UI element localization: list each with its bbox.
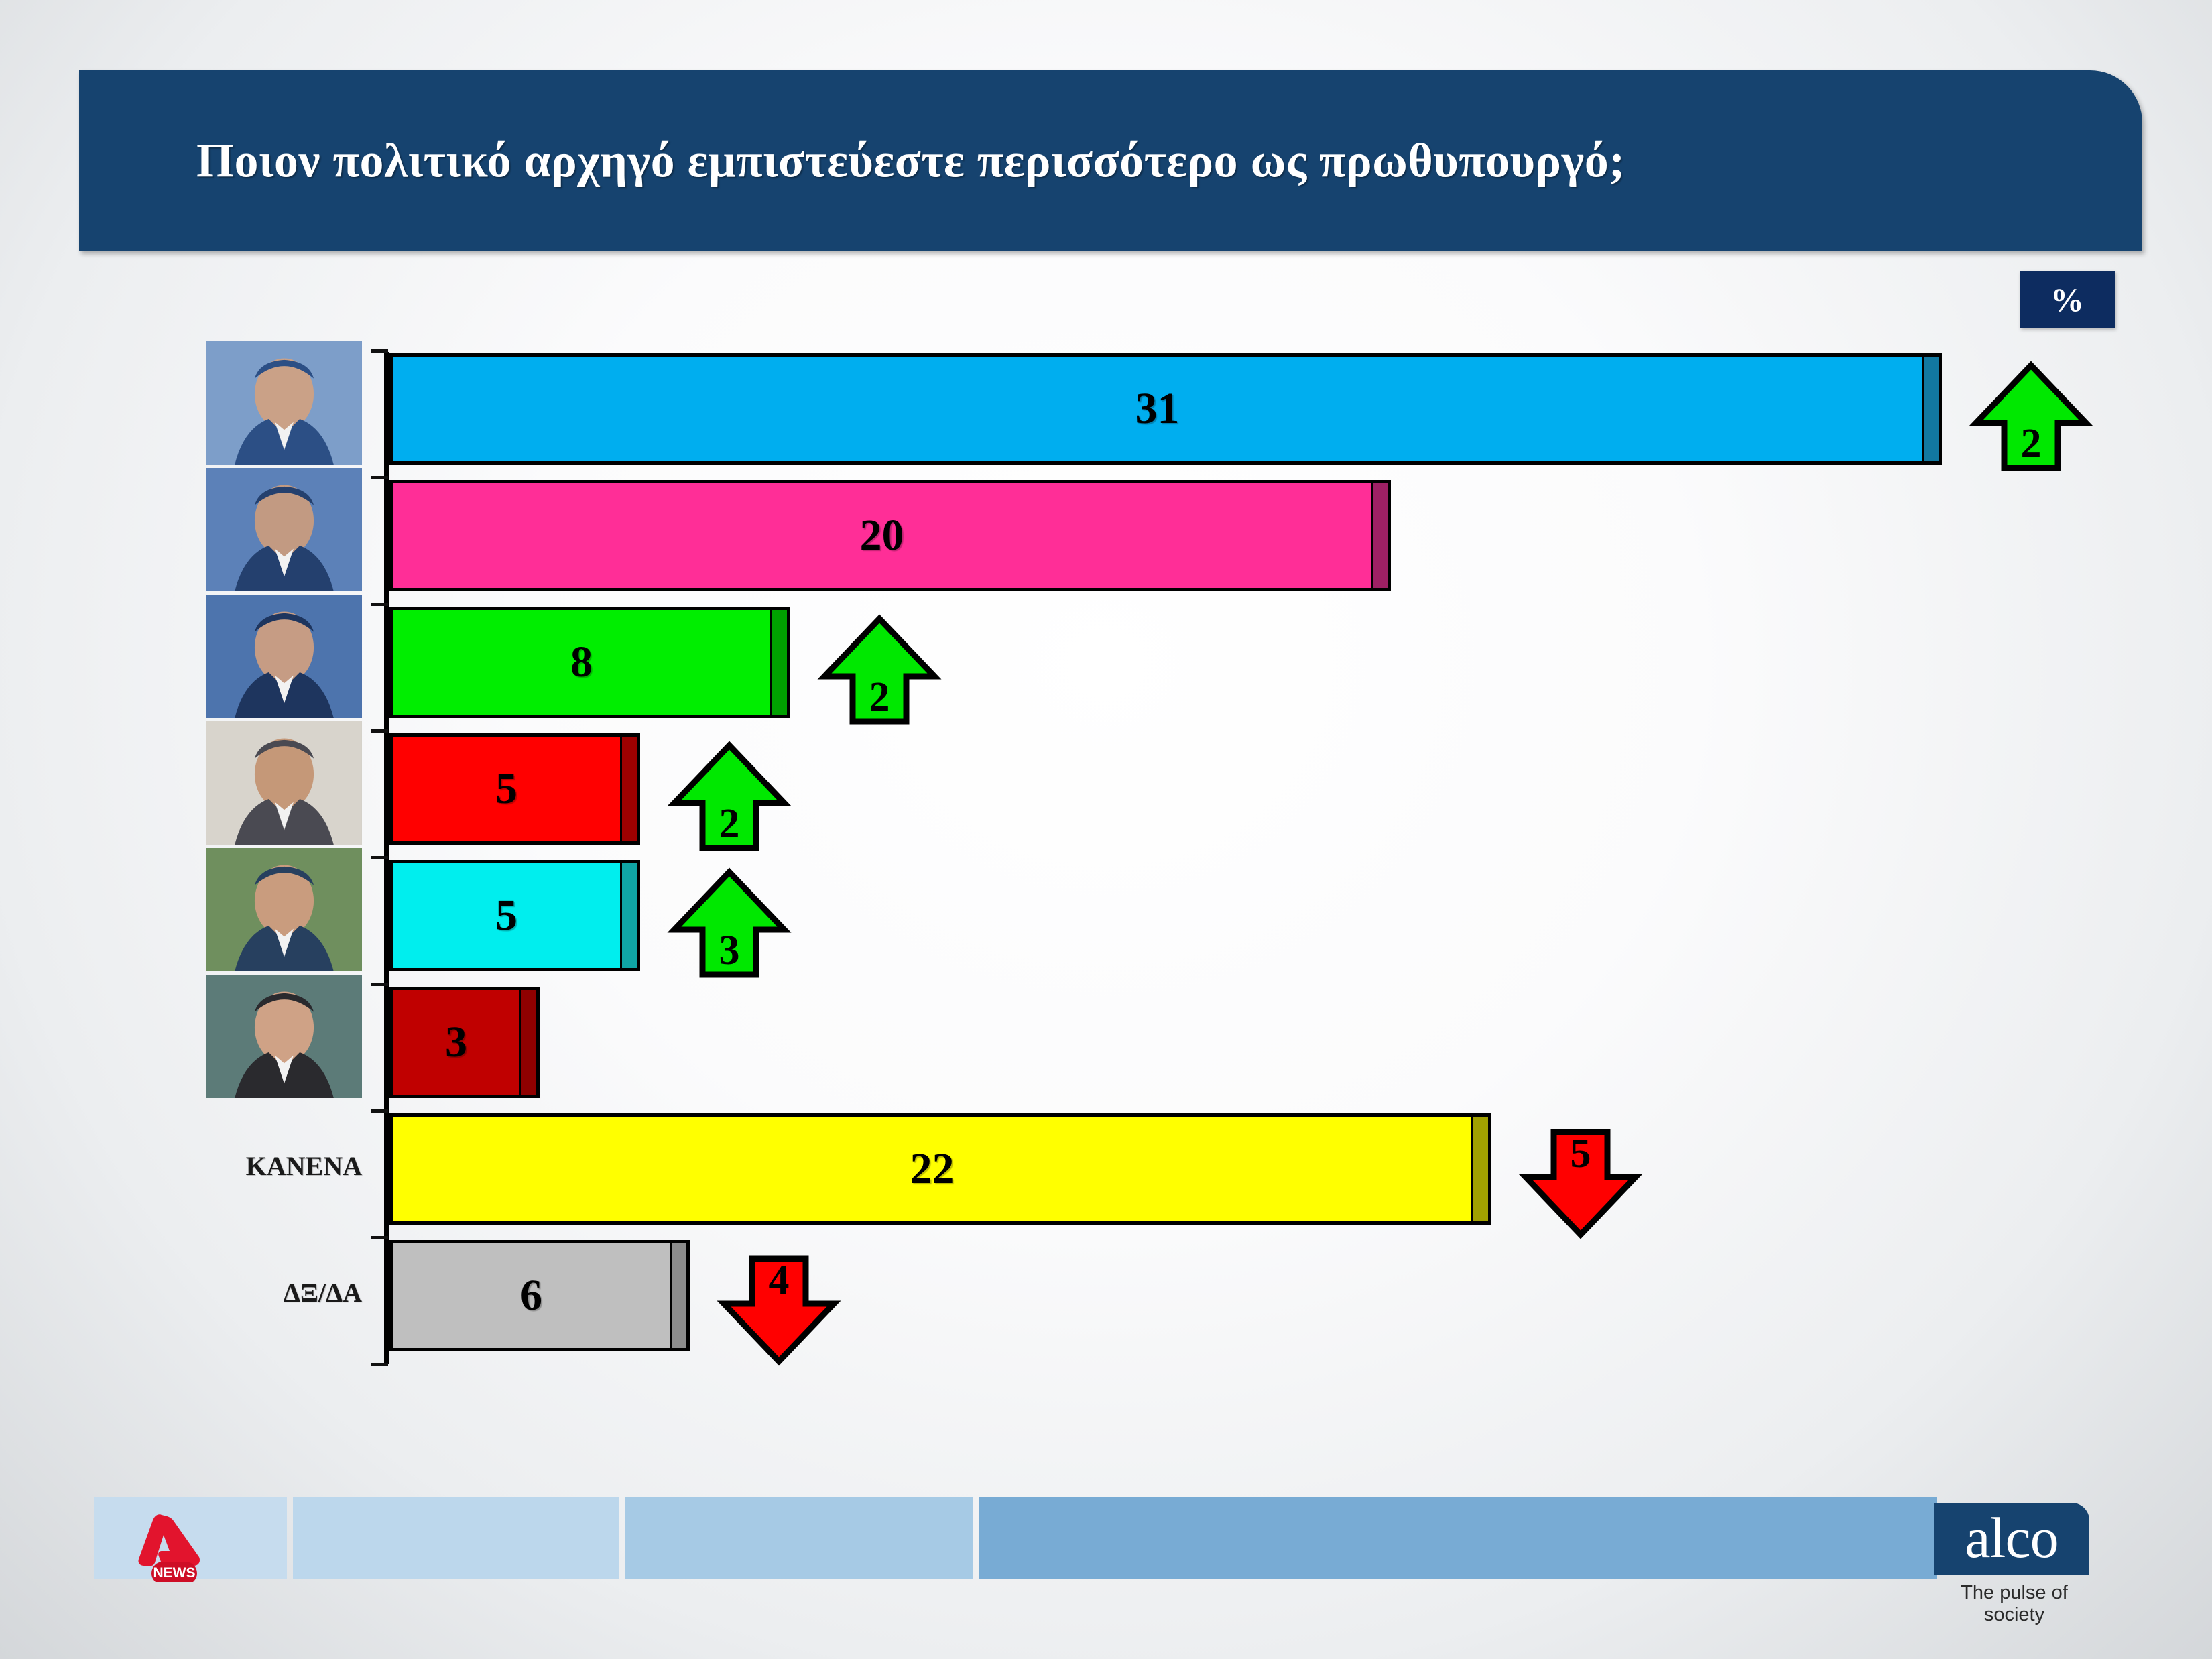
bar-chart: ΚΑΝΕΝΑΔΞ/ΔΑ 31208553226 222354 bbox=[0, 0, 2212, 1659]
change-arrow-up: 2 bbox=[816, 611, 943, 728]
axis-tick bbox=[371, 729, 388, 733]
change-arrow-down: 4 bbox=[715, 1252, 843, 1369]
bar-row: 31 bbox=[389, 353, 1942, 465]
bar-end-cap bbox=[1371, 480, 1391, 591]
bar-value-label: 22 bbox=[910, 1144, 955, 1194]
alco-tagline: The pulse of society bbox=[1934, 1582, 2095, 1626]
axis-tick bbox=[371, 476, 388, 479]
bar: 20 bbox=[389, 480, 1371, 591]
bar-value-label: 20 bbox=[860, 510, 904, 561]
bar-row: 5 bbox=[389, 860, 640, 971]
alco-logo-text: alco bbox=[1965, 1515, 2058, 1561]
portrait-1 bbox=[206, 468, 362, 591]
axis-tick bbox=[371, 1236, 388, 1239]
axis-tick bbox=[371, 1109, 388, 1113]
bar: 5 bbox=[389, 860, 620, 971]
bar-row: 3 bbox=[389, 987, 540, 1098]
bar-value-label: 5 bbox=[495, 763, 517, 814]
bar-value-label: 6 bbox=[520, 1270, 542, 1321]
bar-row: 5 bbox=[389, 733, 640, 845]
portrait-5 bbox=[206, 975, 362, 1098]
portrait-4 bbox=[206, 848, 362, 971]
bar-value-label: 8 bbox=[570, 637, 593, 688]
change-value-label: 4 bbox=[715, 1257, 843, 1304]
axis-tick bbox=[371, 856, 388, 859]
bar-row: 6 bbox=[389, 1240, 690, 1351]
axis-tick bbox=[371, 1363, 388, 1366]
bar-row: 20 bbox=[389, 480, 1391, 591]
change-value-label: 2 bbox=[666, 800, 793, 848]
footer-segment-3 bbox=[625, 1497, 973, 1579]
bar: 6 bbox=[389, 1240, 670, 1351]
bar: 3 bbox=[389, 987, 519, 1098]
change-value-label: 5 bbox=[1517, 1130, 1644, 1178]
bar-end-cap bbox=[519, 987, 540, 1098]
axis-tick bbox=[371, 349, 388, 353]
bar-end-cap bbox=[770, 607, 790, 718]
bar-row: 8 bbox=[389, 607, 790, 718]
portrait-3 bbox=[206, 721, 362, 845]
change-value-label: 3 bbox=[666, 927, 793, 975]
category-label: ΔΞ/ΔΑ bbox=[80, 1277, 362, 1308]
change-arrow-down: 5 bbox=[1517, 1125, 1644, 1243]
bar: 8 bbox=[389, 607, 770, 718]
alpha-news-logo: NEWS NEWS bbox=[132, 1510, 212, 1582]
alco-logo: alco bbox=[1934, 1503, 2089, 1575]
bar-value-label: 31 bbox=[1135, 383, 1180, 434]
bar: 31 bbox=[389, 353, 1922, 465]
bar-end-cap bbox=[620, 860, 640, 971]
axis-tick bbox=[371, 983, 388, 986]
bar: 22 bbox=[389, 1113, 1471, 1225]
change-arrow-up: 3 bbox=[666, 864, 793, 981]
axis-tick bbox=[371, 603, 388, 606]
bar-value-label: 5 bbox=[495, 890, 517, 941]
bar: 5 bbox=[389, 733, 620, 845]
change-value-label: 2 bbox=[816, 674, 943, 721]
portrait-2 bbox=[206, 595, 362, 718]
category-label: ΚΑΝΕΝΑ bbox=[80, 1150, 362, 1182]
bar-row: 22 bbox=[389, 1113, 1491, 1225]
footer-segment-2 bbox=[293, 1497, 619, 1579]
bar-value-label: 3 bbox=[445, 1017, 467, 1068]
change-arrow-up: 2 bbox=[666, 737, 793, 855]
change-value-label: 2 bbox=[1967, 420, 2095, 468]
bar-end-cap bbox=[670, 1240, 690, 1351]
bar-end-cap bbox=[620, 733, 640, 845]
bar-end-cap bbox=[1922, 353, 1942, 465]
bar-end-cap bbox=[1471, 1113, 1491, 1225]
footer-segment-4 bbox=[979, 1497, 1937, 1579]
change-arrow-up: 2 bbox=[1967, 357, 2095, 475]
portrait-0 bbox=[206, 341, 362, 465]
svg-text:NEWS: NEWS bbox=[153, 1565, 196, 1581]
